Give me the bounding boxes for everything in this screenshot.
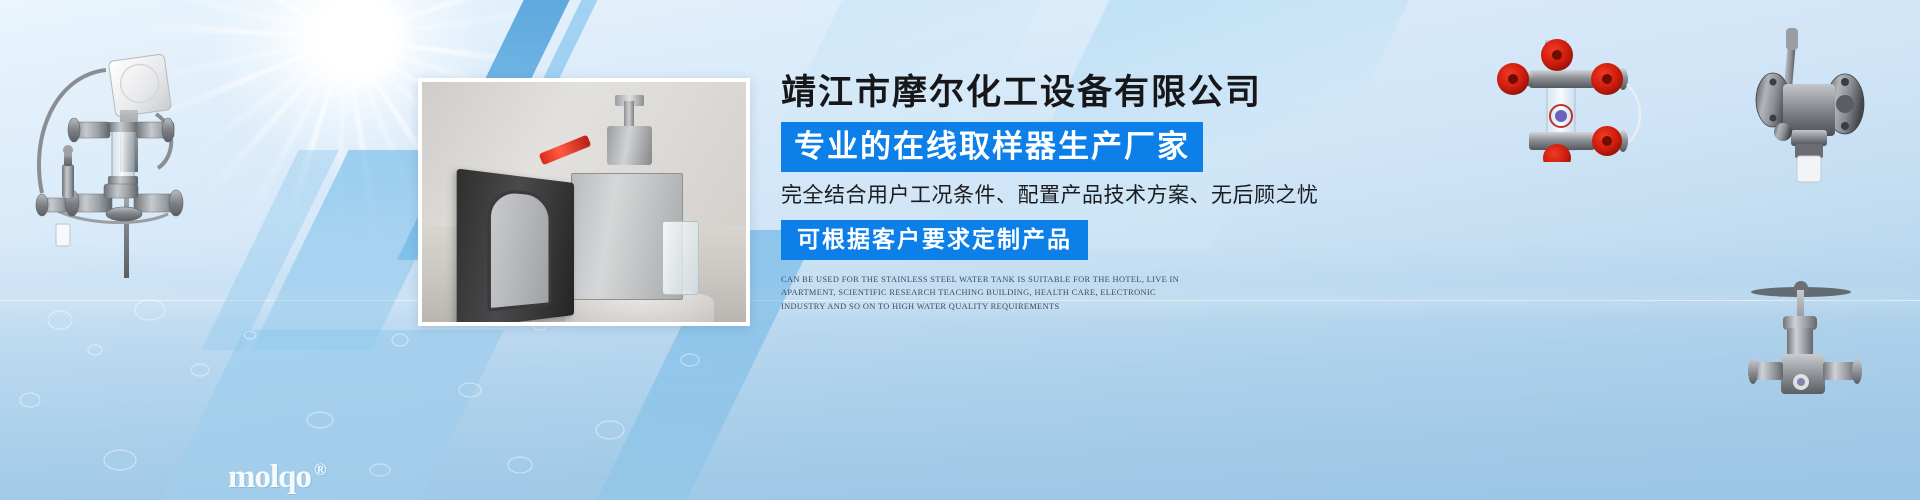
watermark-logo: molqo® [228,459,326,496]
banner-text-block: 靖江市摩尔化工设备有限公司 专业的在线取样器生产厂家 完全结合用户工况条件、配置… [781,74,1421,314]
right-product-cross-valve [1487,32,1687,162]
sun-core-icon [300,0,412,92]
headline-badge: 专业的在线取样器生产厂家 [781,122,1203,172]
photo-cabinet-door [457,168,574,322]
photo-valve-head [594,101,665,183]
center-product-photo [418,78,750,326]
subheadline-text: 完全结合用户工况条件、配置产品技术方案、无后顾之忧 [781,183,1421,208]
right-product-lever-valve [1745,22,1895,212]
photo-sample-bottle [662,221,700,295]
customization-badge: 可根据客户要求定制产品 [781,220,1088,260]
right-product-gate-valve [1745,232,1895,412]
registered-trademark-icon: ® [314,460,326,479]
promo-banner: 靖江市摩尔化工设备有限公司 专业的在线取样器生产厂家 完全结合用户工况条件、配置… [0,0,1920,500]
left-product-sampler [8,18,198,278]
watermark-text: molqo [228,459,311,495]
company-title: 靖江市摩尔化工设备有限公司 [781,74,1421,113]
english-description: CAN BE USED FOR THE STAINLESS STEEL WATE… [781,273,1185,314]
